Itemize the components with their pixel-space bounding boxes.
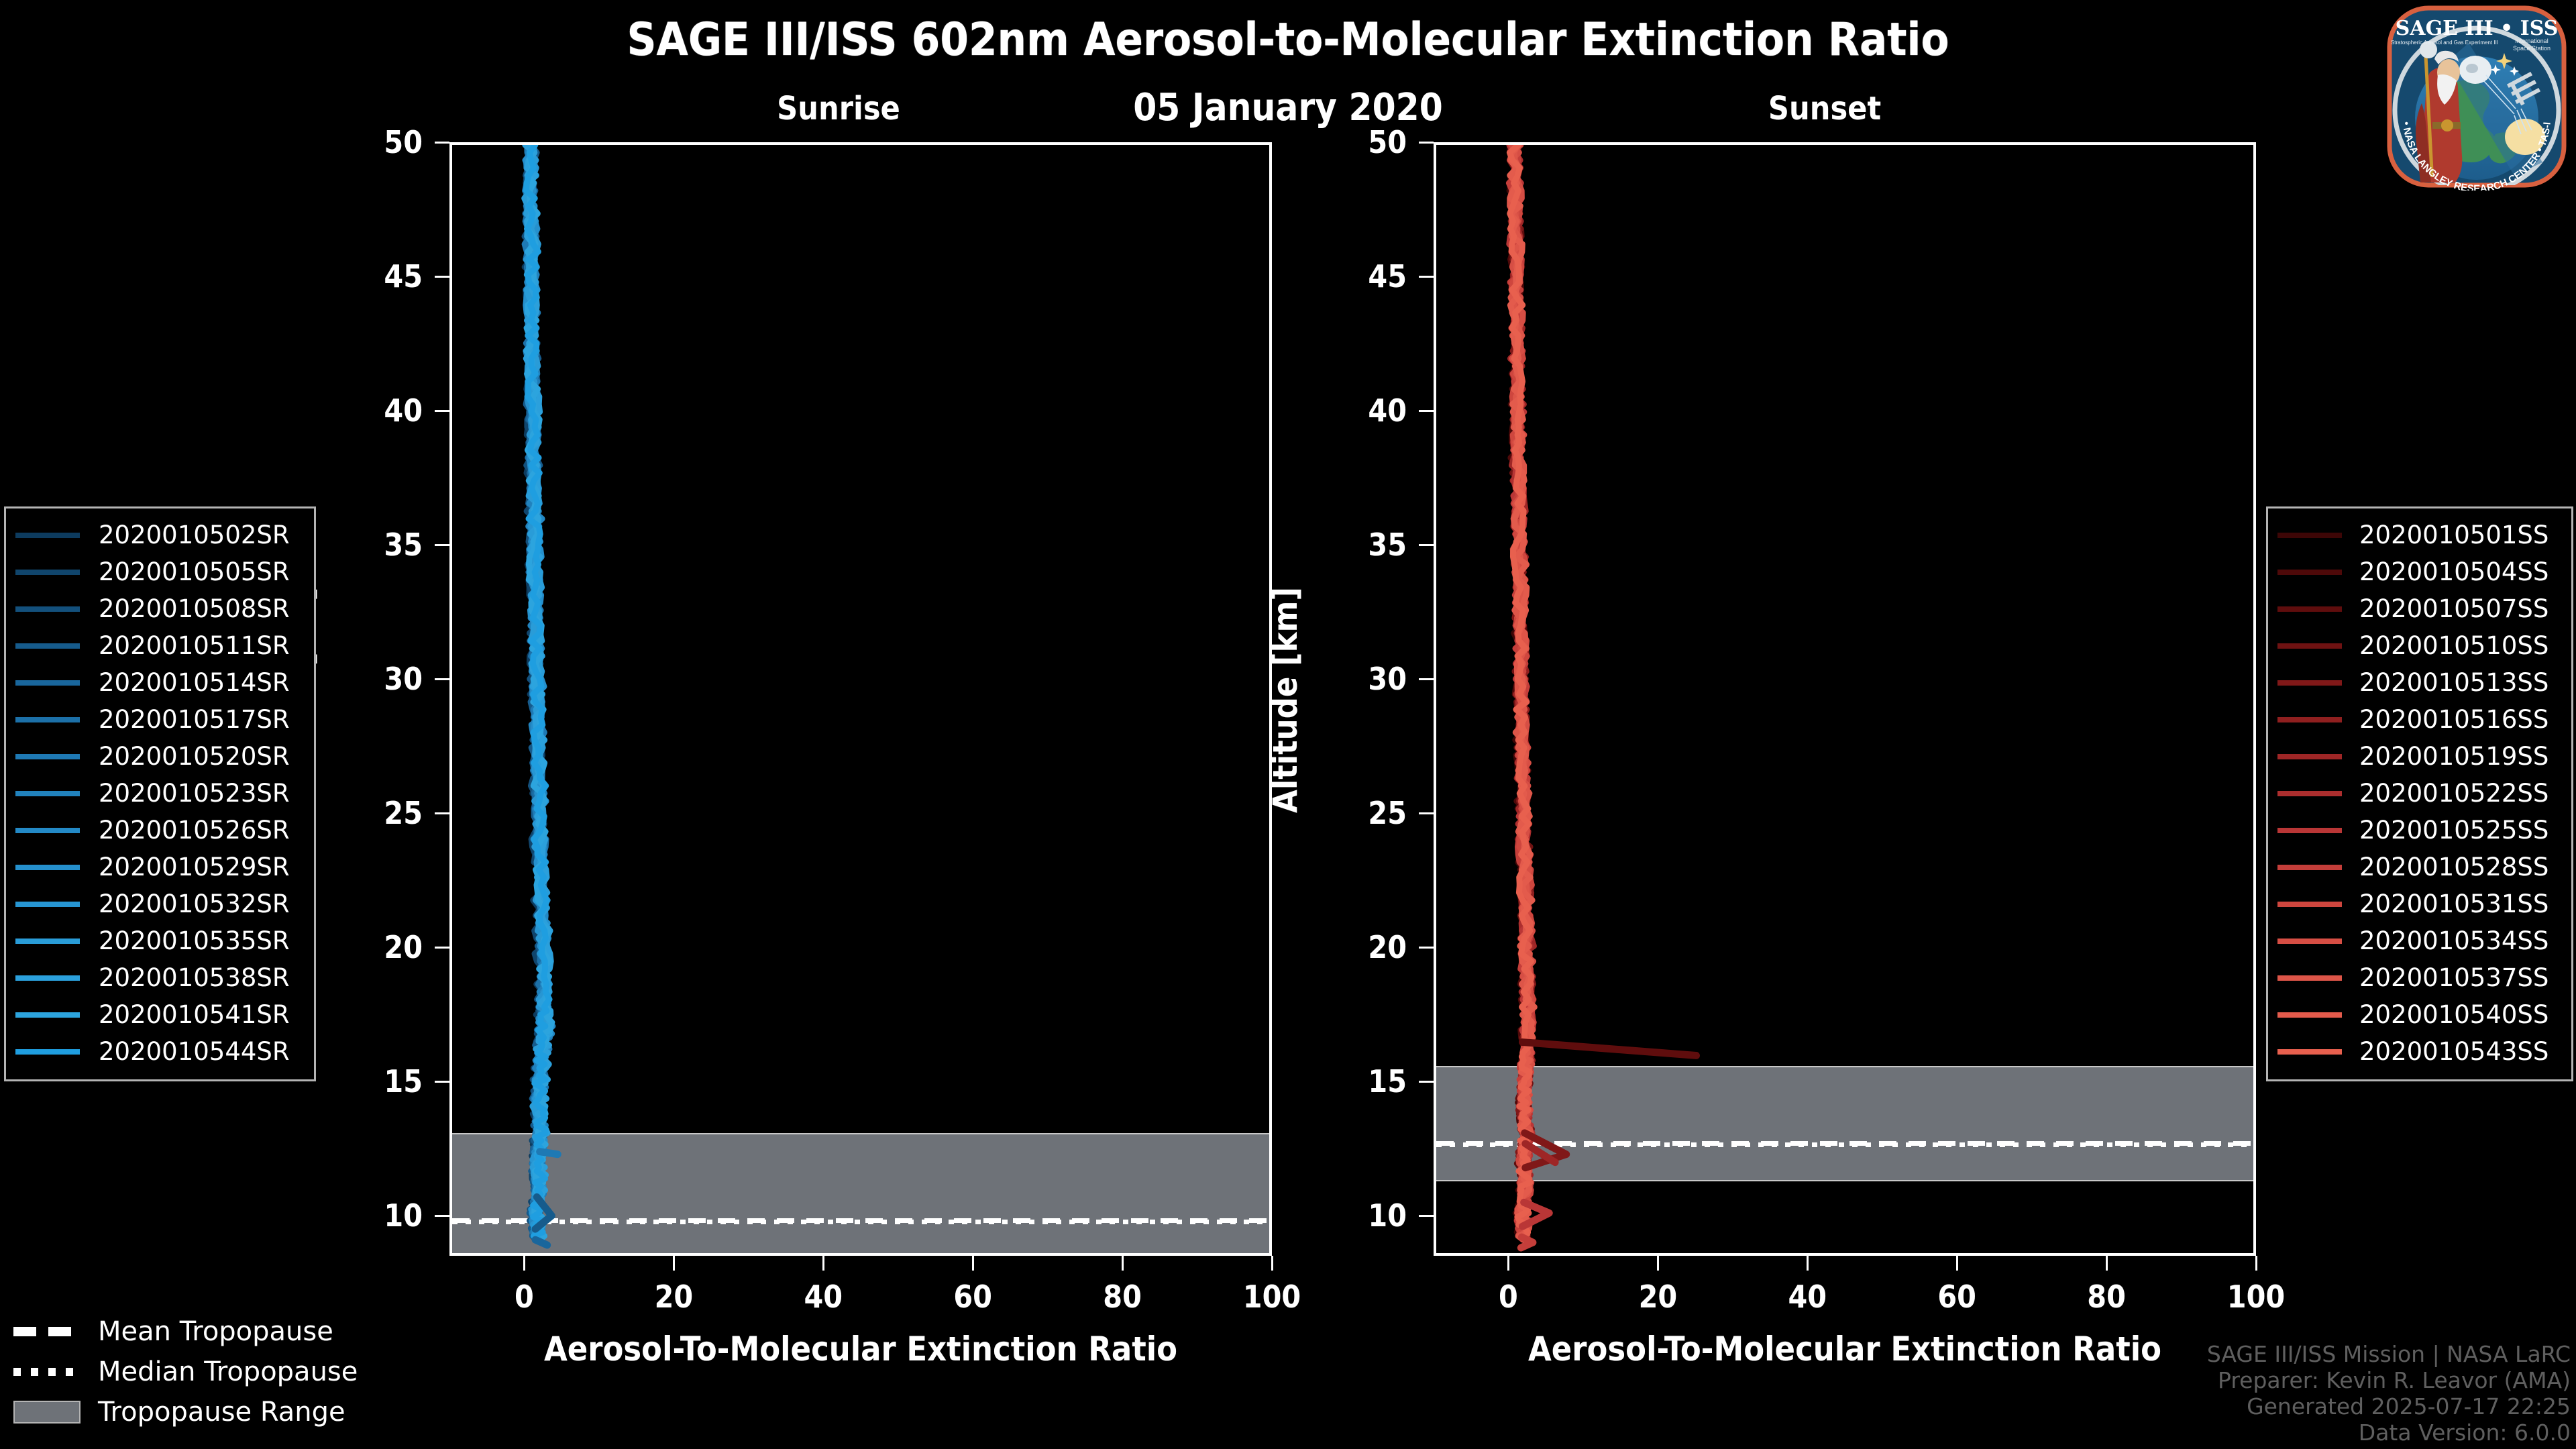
y-axis-tick xyxy=(1419,812,1434,814)
legend-item-label: 2020010522SS xyxy=(2359,779,2548,808)
y-axis-tick xyxy=(1419,678,1434,680)
footer-data-version: Data Version: 6.0.0 xyxy=(2207,1420,2571,1446)
x-axis-tick xyxy=(822,1256,824,1271)
legend-item-label: 2020010510SS xyxy=(2359,631,2548,660)
legend-item[interactable]: 2020010541SR xyxy=(15,996,305,1033)
y-axis-tick-label: 40 xyxy=(322,392,423,429)
legend-color-swatch xyxy=(2277,570,2342,575)
x-axis-tick-label: 0 xyxy=(1454,1279,1562,1315)
x-axis-tick xyxy=(1807,1256,1809,1271)
legend-item-label: 2020010505SR xyxy=(99,557,290,586)
y-axis-tick xyxy=(435,410,449,412)
legend-item[interactable]: 2020010526SR xyxy=(15,812,305,849)
tropopause-range-label: Tropopause Range xyxy=(98,1397,345,1428)
y-axis-tick xyxy=(435,544,449,546)
x-axis-tick xyxy=(1657,1256,1659,1271)
legend-color-swatch xyxy=(15,533,80,538)
legend-item[interactable]: 2020010519SS xyxy=(2277,738,2562,775)
legend-item-label: 2020010520SR xyxy=(99,742,290,771)
legend-color-swatch xyxy=(2277,902,2342,907)
y-axis-tick-label: 35 xyxy=(1306,527,1407,563)
legend-color-swatch xyxy=(2277,975,2342,981)
legend-color-swatch xyxy=(15,938,80,944)
legend-item-label: 2020010504SS xyxy=(2359,557,2548,586)
legend-item[interactable]: 2020010528SS xyxy=(2277,849,2562,885)
x-axis-tick xyxy=(1122,1256,1124,1271)
legend-color-swatch xyxy=(2277,1012,2342,1018)
legend-item-label: 2020010511SR xyxy=(99,631,290,660)
legend-color-swatch xyxy=(15,902,80,907)
legend-item[interactable]: 2020010501SS xyxy=(2277,517,2562,553)
x-axis-tick-label: 0 xyxy=(470,1279,578,1315)
legend-item[interactable]: 2020010502SR xyxy=(15,517,305,553)
legend-color-swatch xyxy=(2277,643,2342,649)
sunset-panel-title: Sunset xyxy=(1610,90,2039,127)
sunset-series-legend[interactable]: 2020010501SS2020010504SS2020010507SS2020… xyxy=(2266,506,2573,1081)
y-axis-tick-label: 40 xyxy=(1306,392,1407,429)
legend-color-swatch xyxy=(15,717,80,722)
x-axis-tick-label: 80 xyxy=(1069,1279,1176,1315)
legend-item-label: 2020010544SR xyxy=(99,1037,290,1066)
legend-row-mean-tropopause: Mean Tropopause xyxy=(13,1311,376,1352)
x-axis-tick xyxy=(673,1256,675,1271)
legend-color-swatch xyxy=(15,828,80,833)
mission-patch-icon: SAGE III • ISS Stratospheric Aerosol and… xyxy=(2383,3,2571,191)
legend-item[interactable]: 2020010522SS xyxy=(2277,775,2562,812)
x-axis-tick xyxy=(2255,1256,2257,1271)
y-axis-tick xyxy=(1419,544,1434,546)
sunset-series-lines xyxy=(1436,145,2253,1253)
legend-item[interactable]: 2020010532SR xyxy=(15,885,305,922)
logo-title: SAGE III • ISS xyxy=(2396,17,2559,40)
y-axis-tick xyxy=(435,276,449,278)
legend-color-swatch xyxy=(15,643,80,649)
x-axis-tick xyxy=(523,1256,525,1271)
legend-item[interactable]: 2020010537SS xyxy=(2277,959,2562,996)
y-axis-tick xyxy=(435,947,449,949)
legend-item-label: 2020010519SS xyxy=(2359,742,2548,771)
x-axis-label: Aerosol-To-Molecular Extinction Ratio xyxy=(1434,1330,2256,1368)
legend-color-swatch xyxy=(2277,606,2342,612)
y-axis-tick-label: 30 xyxy=(322,661,423,697)
legend-item-label: 2020010523SR xyxy=(99,779,290,808)
legend-color-swatch xyxy=(2277,938,2342,944)
tropopause-legend: Mean Tropopause Median Tropopause Tropop… xyxy=(13,1311,376,1432)
y-axis-label: Altitude [km] xyxy=(1266,587,1305,813)
legend-item-label: 2020010543SS xyxy=(2359,1037,2548,1066)
legend-item-label: 2020010516SS xyxy=(2359,705,2548,734)
legend-item[interactable]: 2020010525SS xyxy=(2277,812,2562,849)
y-axis-tick xyxy=(1419,1215,1434,1217)
y-axis-tick xyxy=(435,1215,449,1217)
legend-color-swatch xyxy=(2277,791,2342,796)
date-subtitle: 05 January 2020 xyxy=(0,86,2576,129)
legend-item[interactable]: 2020010514SR xyxy=(15,664,305,701)
logo-subtitle-right-1: International xyxy=(2515,38,2548,44)
y-axis-tick-label: 10 xyxy=(1306,1197,1407,1234)
mean-tropopause-label: Mean Tropopause xyxy=(98,1316,333,1347)
y-axis-tick xyxy=(1419,1081,1434,1083)
x-axis-tick-label: 100 xyxy=(2202,1279,2310,1315)
y-axis-tick-label: 25 xyxy=(1306,795,1407,831)
legend-item[interactable]: 2020010513SS xyxy=(2277,664,2562,701)
tropopause-range-key-icon xyxy=(13,1401,80,1424)
legend-item-label: 2020010538SR xyxy=(99,963,290,992)
x-axis-label: Aerosol-To-Molecular Extinction Ratio xyxy=(449,1330,1272,1368)
y-axis-tick-label: 45 xyxy=(1306,258,1407,294)
legend-item-label: 2020010526SR xyxy=(99,816,290,845)
sage-iii-iss-logo: SAGE III • ISS Stratospheric Aerosol and… xyxy=(2383,3,2571,191)
y-axis-tick xyxy=(435,142,449,144)
sunset-plot-area xyxy=(1434,142,2256,1256)
y-axis-tick-label: 15 xyxy=(322,1063,423,1099)
mean-tropopause-key-icon xyxy=(13,1327,80,1336)
legend-row-median-tropopause: Median Tropopause xyxy=(13,1352,376,1392)
x-axis-tick-label: 40 xyxy=(1754,1279,1861,1315)
series-outlier-line xyxy=(535,1240,547,1245)
legend-color-swatch xyxy=(2277,680,2342,686)
legend-item[interactable]: 2020010538SR xyxy=(15,959,305,996)
legend-item-label: 2020010529SR xyxy=(99,853,290,881)
series-outlier-line xyxy=(540,1152,558,1155)
footer-generated: Generated 2025-07-17 22:25 xyxy=(2207,1394,2571,1420)
legend-row-tropopause-range: Tropopause Range xyxy=(13,1392,376,1432)
legend-color-swatch xyxy=(2277,533,2342,538)
x-axis-tick-label: 80 xyxy=(2053,1279,2160,1315)
y-axis-tick-label: 15 xyxy=(1306,1063,1407,1099)
legend-color-swatch xyxy=(15,606,80,612)
y-axis-tick xyxy=(1419,276,1434,278)
legend-color-swatch xyxy=(2277,754,2342,759)
sunrise-series-legend[interactable]: 2020010502SR2020010505SR2020010508SR2020… xyxy=(4,506,316,1081)
x-axis-tick xyxy=(972,1256,974,1271)
x-axis-tick xyxy=(1271,1256,1273,1271)
legend-item[interactable]: 2020010520SR xyxy=(15,738,305,775)
x-axis-tick xyxy=(1507,1256,1509,1271)
legend-color-swatch xyxy=(2277,828,2342,833)
legend-item[interactable]: 2020010505SR xyxy=(15,553,305,590)
legend-color-swatch xyxy=(15,754,80,759)
legend-color-swatch xyxy=(2277,717,2342,722)
median-tropopause-key-icon xyxy=(13,1368,80,1376)
median-tropopause-label: Median Tropopause xyxy=(98,1356,358,1387)
y-axis-tick xyxy=(1419,947,1434,949)
x-axis-tick-label: 60 xyxy=(1903,1279,2010,1315)
legend-color-swatch xyxy=(2277,865,2342,870)
legend-color-swatch xyxy=(15,865,80,870)
x-axis-tick-label: 100 xyxy=(1218,1279,1326,1315)
legend-item-label: 2020010534SS xyxy=(2359,926,2548,955)
y-axis-tick-label: 20 xyxy=(322,929,423,965)
legend-item-label: 2020010525SS xyxy=(2359,816,2548,845)
legend-item[interactable]: 2020010543SS xyxy=(2277,1033,2562,1070)
legend-item-label: 2020010541SR xyxy=(99,1000,290,1029)
legend-item-label: 2020010528SS xyxy=(2359,853,2548,881)
legend-color-swatch xyxy=(15,975,80,981)
legend-item[interactable]: 2020010544SR xyxy=(15,1033,305,1070)
legend-item-label: 2020010502SR xyxy=(99,521,290,549)
footer-credits: SAGE III/ISS Mission | NASA LaRC Prepare… xyxy=(2207,1342,2571,1446)
y-axis-tick xyxy=(1419,410,1434,412)
legend-item-label: 2020010513SS xyxy=(2359,668,2548,697)
legend-color-swatch xyxy=(15,1012,80,1018)
logo-subtitle-right-2: Space Station xyxy=(2513,45,2551,52)
x-axis-tick xyxy=(1956,1256,1958,1271)
legend-color-swatch xyxy=(15,791,80,796)
legend-item-label: 2020010501SS xyxy=(2359,521,2548,549)
x-axis-tick-label: 20 xyxy=(620,1279,727,1315)
y-axis-tick-label: 30 xyxy=(1306,661,1407,697)
y-axis-tick-label: 50 xyxy=(322,124,423,160)
x-axis-tick-label: 40 xyxy=(769,1279,877,1315)
y-axis-tick xyxy=(435,812,449,814)
legend-item-label: 2020010535SR xyxy=(99,926,290,955)
legend-color-swatch xyxy=(15,570,80,575)
legend-color-swatch xyxy=(15,1049,80,1055)
legend-item[interactable]: 2020010511SR xyxy=(15,627,305,664)
sunrise-panel-title: Sunrise xyxy=(624,90,1053,127)
series-outlier-line xyxy=(1522,1042,1696,1056)
legend-item[interactable]: 2020010510SS xyxy=(2277,627,2562,664)
y-axis-tick-label: 45 xyxy=(322,258,423,294)
y-axis-tick-label: 25 xyxy=(322,795,423,831)
footer-preparer: Preparer: Kevin R. Leavor (AMA) xyxy=(2207,1368,2571,1394)
legend-item[interactable]: 2020010535SR xyxy=(15,922,305,959)
y-axis-tick-label: 10 xyxy=(322,1197,423,1234)
footer-mission: SAGE III/ISS Mission | NASA LaRC xyxy=(2207,1342,2571,1368)
sunrise-plot-area xyxy=(449,142,1272,1256)
legend-item[interactable]: 2020010504SS xyxy=(2277,553,2562,590)
legend-item[interactable]: 2020010507SS xyxy=(2277,590,2562,627)
legend-item[interactable]: 2020010517SR xyxy=(15,701,305,738)
x-axis-tick-label: 20 xyxy=(1604,1279,1711,1315)
legend-item-label: 2020010531SS xyxy=(2359,890,2548,918)
legend-item[interactable]: 2020010529SR xyxy=(15,849,305,885)
legend-item[interactable]: 2020010516SS xyxy=(2277,701,2562,738)
legend-color-swatch xyxy=(15,680,80,686)
legend-item[interactable]: 2020010508SR xyxy=(15,590,305,627)
y-axis-tick xyxy=(435,678,449,680)
page-title: SAGE III/ISS 602nm Aerosol-to-Molecular … xyxy=(0,13,2576,66)
legend-item-label: 2020010532SR xyxy=(99,890,290,918)
legend-item-label: 2020010508SR xyxy=(99,594,290,623)
legend-item-label: 2020010537SS xyxy=(2359,963,2548,992)
legend-color-swatch xyxy=(2277,1049,2342,1055)
logo-subtitle-left: Stratospheric Aerosol and Gas Experiment… xyxy=(2391,40,2498,46)
x-axis-tick-label: 60 xyxy=(919,1279,1026,1315)
legend-item-label: 2020010540SS xyxy=(2359,1000,2548,1029)
legend-item-label: 2020010514SR xyxy=(99,668,290,697)
legend-item-label: 2020010517SR xyxy=(99,705,290,734)
legend-item[interactable]: 2020010531SS xyxy=(2277,885,2562,922)
y-axis-tick xyxy=(435,1081,449,1083)
legend-item[interactable]: 2020010534SS xyxy=(2277,922,2562,959)
y-axis-tick-label: 50 xyxy=(1306,124,1407,160)
x-axis-tick xyxy=(2106,1256,2108,1271)
y-axis-tick xyxy=(1419,142,1434,144)
y-axis-tick-label: 35 xyxy=(322,527,423,563)
legend-item[interactable]: 2020010540SS xyxy=(2277,996,2562,1033)
y-axis-tick-label: 20 xyxy=(1306,929,1407,965)
legend-item[interactable]: 2020010523SR xyxy=(15,775,305,812)
sunrise-series-lines xyxy=(452,145,1269,1253)
legend-item-label: 2020010507SS xyxy=(2359,594,2548,623)
